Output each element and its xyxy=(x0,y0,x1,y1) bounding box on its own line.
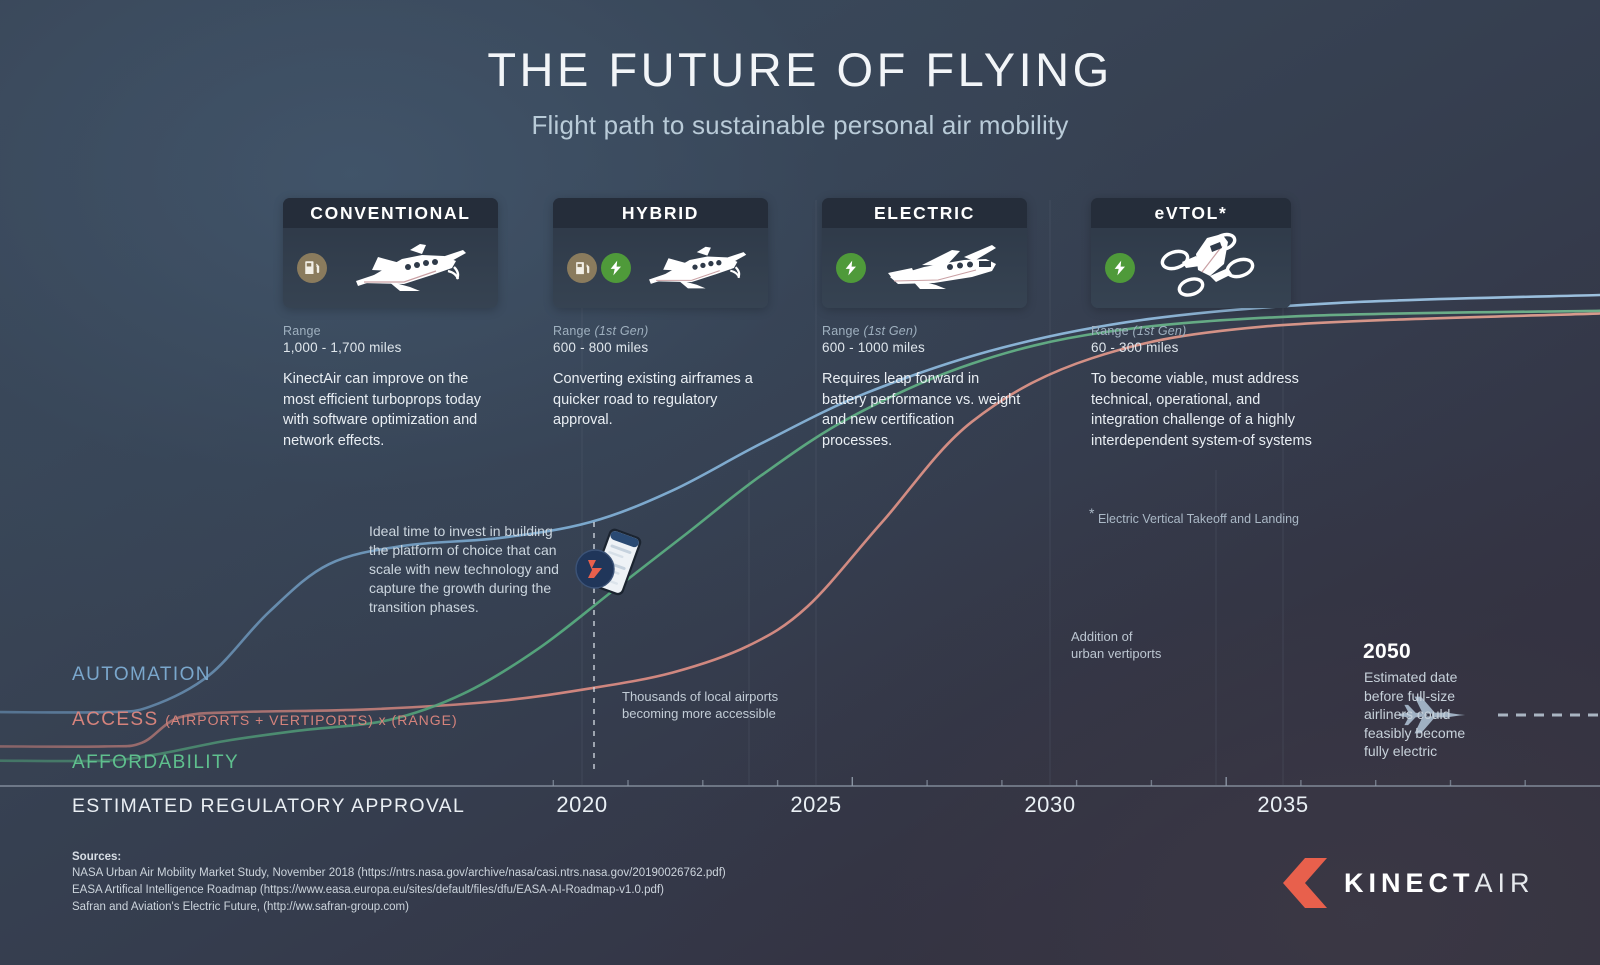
card-conventional-icons xyxy=(283,228,498,308)
series-line-affordability xyxy=(0,311,1600,761)
card-evtol-range-value: 60 - 300 miles xyxy=(1091,340,1291,355)
card-conventional-description: KinectAir can improve on the most effici… xyxy=(283,369,498,451)
page-subtitle: Flight path to sustainable personal air … xyxy=(0,110,1600,141)
card-conventional-range-label: Range xyxy=(283,324,498,338)
card-hybrid[interactable]: HYBRID xyxy=(553,198,768,431)
annotation-urban-vertiports: Addition of urban vertiports xyxy=(1071,628,1161,662)
legend-access-label: ACCESS xyxy=(72,709,159,730)
card-electric-range-value: 600 - 1000 miles xyxy=(822,340,1027,355)
timeline-chart xyxy=(0,0,1600,965)
axis-label-2035: 2035 xyxy=(1257,792,1308,818)
source-item-3[interactable]: Safran and Aviation's Electric Future, (… xyxy=(72,901,409,913)
card-hybrid-title: HYBRID xyxy=(553,198,768,228)
card-hybrid-range-value: 600 - 800 miles xyxy=(553,340,768,355)
annotation-local-airports: Thousands of local airports becoming mor… xyxy=(622,688,778,722)
electric-plane-icon xyxy=(870,239,1013,297)
annotation-invest: Ideal time to invest in building the pla… xyxy=(369,522,564,617)
card-electric-title: ELECTRIC xyxy=(822,198,1027,228)
legend-regulatory-approval: ESTIMATED REGULATORY APPROVAL xyxy=(72,795,465,818)
legend-access-sublabel: (AIRPORTS + VERTIPORTS) x (RANGE) xyxy=(165,712,457,728)
card-evtol[interactable]: eVTOL* xyxy=(1091,198,1291,451)
conventional-plane-icon xyxy=(331,237,484,299)
fuel-icon xyxy=(297,253,327,283)
kinectair-logo-mark xyxy=(1283,858,1329,908)
electric-icon xyxy=(1105,253,1135,283)
chart-axis-ticks xyxy=(553,777,1525,786)
legend-affordability: AFFORDABILITY xyxy=(72,752,239,774)
kinectair-app-graphic xyxy=(566,525,681,600)
sources-title: Sources: xyxy=(72,851,121,863)
card-electric[interactable]: ELECTRIC xyxy=(822,198,1027,451)
card-evtol-range-label: Range (1st Gen) xyxy=(1091,324,1291,338)
page-title: THE FUTURE OF FLYING xyxy=(0,42,1600,97)
evtol-aircraft-icon xyxy=(1139,232,1277,304)
annotation-2050-body: Estimated date before full-size airliner… xyxy=(1364,668,1469,761)
card-conventional[interactable]: CONVENTIONAL xyxy=(283,198,498,451)
infographic-canvas: THE FUTURE OF FLYING Flight path to sust… xyxy=(0,0,1600,965)
footnote-text: Electric Vertical Takeoff and Landing xyxy=(1098,512,1299,526)
evtol-footnote: * Electric Vertical Takeoff and Landing xyxy=(1089,505,1349,526)
electric-icon xyxy=(601,253,631,283)
card-hybrid-icons xyxy=(553,228,768,308)
card-electric-range-label: Range (1st Gen) xyxy=(822,324,1027,338)
electric-icon xyxy=(836,253,866,283)
axis-label-2020: 2020 xyxy=(556,792,607,818)
card-evtol-description: To become viable, must address technical… xyxy=(1091,369,1321,451)
source-item-1[interactable]: NASA Urban Air Mobility Market Study, No… xyxy=(72,867,726,879)
kinectair-logo[interactable]: KINECTAIR xyxy=(1283,858,1535,908)
logo-brand: KINECT xyxy=(1344,868,1475,898)
annotation-2050-year: 2050 xyxy=(1363,640,1411,664)
card-evtol-icons xyxy=(1091,228,1291,308)
card-conventional-box: CONVENTIONAL xyxy=(283,198,498,308)
legend-access: ACCESS (AIRPORTS + VERTIPORTS) x (RANGE) xyxy=(72,709,458,731)
source-item-2[interactable]: EASA Artifical Intelligence Roadmap (htt… xyxy=(72,884,664,896)
logo-brand-suffix: AIR xyxy=(1475,868,1535,898)
series-line-automation xyxy=(0,295,1600,713)
card-conventional-title: CONVENTIONAL xyxy=(283,198,498,228)
card-conventional-range-value: 1,000 - 1,700 miles xyxy=(283,340,498,355)
legend-automation: AUTOMATION xyxy=(72,664,211,686)
card-hybrid-description: Converting existing airframes a quicker … xyxy=(553,369,768,431)
axis-label-2025: 2025 xyxy=(790,792,841,818)
card-electric-box: ELECTRIC xyxy=(822,198,1027,308)
card-evtol-box: eVTOL* xyxy=(1091,198,1291,308)
kinectair-logo-text: KINECTAIR xyxy=(1344,868,1535,899)
annotation-urban-vertiports-line1: Addition of xyxy=(1071,628,1161,645)
annotation-local-airports-line2: becoming more accessible xyxy=(622,705,778,722)
annotation-local-airports-line1: Thousands of local airports xyxy=(622,688,778,705)
footnote-marker: * xyxy=(1089,505,1094,521)
card-hybrid-box: HYBRID xyxy=(553,198,768,308)
series-line-access xyxy=(0,313,1600,746)
annotation-urban-vertiports-line2: urban vertiports xyxy=(1071,645,1161,662)
axis-label-2030: 2030 xyxy=(1024,792,1075,818)
card-hybrid-range-label: Range (1st Gen) xyxy=(553,324,768,338)
card-electric-icons xyxy=(822,228,1027,308)
hybrid-plane-icon xyxy=(635,239,754,297)
card-electric-description: Requires leap forward in battery perform… xyxy=(822,369,1027,451)
fuel-icon xyxy=(567,253,597,283)
card-evtol-title: eVTOL* xyxy=(1091,198,1291,228)
